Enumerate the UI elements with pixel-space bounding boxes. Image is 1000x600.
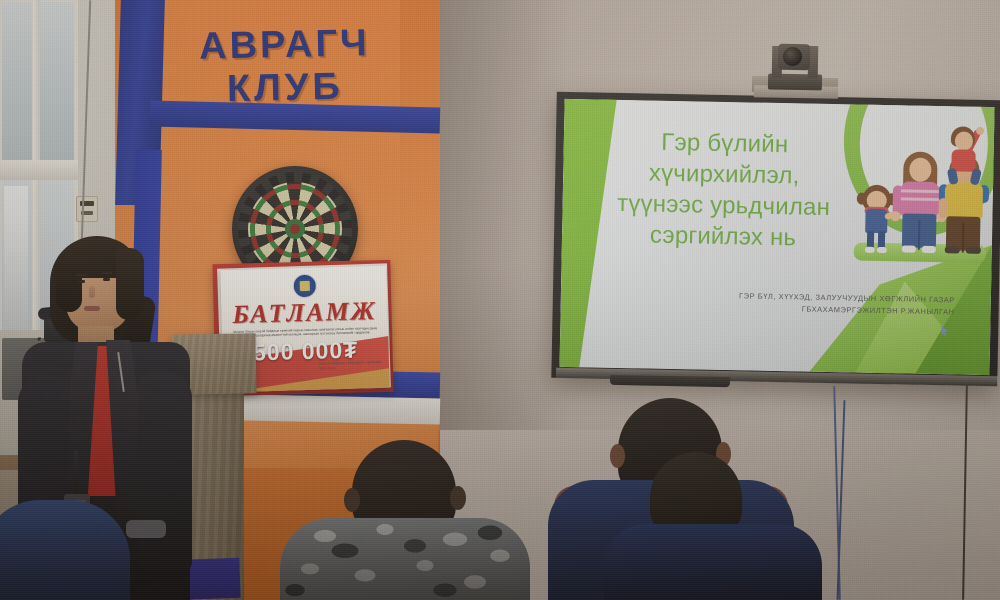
presentation-slide: Гэр бүлийн хүчирхийлэл, түүнээс урьдчила… bbox=[560, 99, 995, 375]
certificate-title: БАТЛАМЖ bbox=[221, 296, 388, 331]
certificate-signature: Онцгой байдлын газар дарга, хурандаа 202… bbox=[319, 360, 385, 372]
audience-shading bbox=[604, 524, 822, 600]
wall-sign-avragch-klub: АВРАГЧ КЛУБ bbox=[169, 22, 401, 123]
window-mullion-horizontal bbox=[0, 160, 78, 180]
wall-mounted-television: Гэр бүлийн хүчирхийлэл, түүнээс урьдчила… bbox=[551, 92, 1000, 387]
audience-member-camouflage-uniform bbox=[280, 518, 530, 600]
camera-lens-icon bbox=[783, 47, 802, 66]
window-pane bbox=[2, 2, 32, 162]
presenter-mouth bbox=[84, 306, 100, 311]
audience-ear bbox=[450, 486, 466, 510]
presenter-arm-right bbox=[138, 372, 192, 572]
presenter-nose bbox=[89, 286, 95, 298]
window-pane bbox=[40, 2, 74, 162]
sign-line-1: АВРАГЧ bbox=[169, 22, 400, 69]
presenter-cuff-right bbox=[126, 520, 166, 538]
girl-shoe bbox=[877, 247, 887, 253]
slide-title: Гэр бүлийн хүчирхийлэл, түүнээс урьдчила… bbox=[584, 125, 864, 254]
slide-title-line: түүнээс урьдчилан bbox=[584, 187, 863, 223]
audience-shading bbox=[0, 500, 130, 600]
family-illustration bbox=[847, 122, 992, 277]
father-shoe bbox=[966, 247, 981, 254]
presenter-eye bbox=[78, 280, 85, 283]
presenter-hair-side-right bbox=[116, 248, 144, 320]
mother-shoe bbox=[902, 245, 916, 252]
sign-line-2: КЛУБ bbox=[170, 64, 401, 113]
tv-screen: Гэр бүлийн хүчирхийлэл, түүнээс урьдчила… bbox=[560, 99, 995, 375]
mother-shoe bbox=[922, 246, 936, 253]
audience-ear bbox=[344, 488, 360, 512]
conference-room-photo: АВРАГЧ КЛУБ БАТЛАМЖ Монгол Улсын онцгой … bbox=[0, 0, 1000, 600]
boy-hand bbox=[976, 127, 984, 135]
mother-hand-left bbox=[890, 211, 900, 221]
power-outlet-icon bbox=[76, 196, 98, 222]
father-shirt bbox=[944, 182, 983, 219]
slide-title-line: сэргийлэх нь bbox=[584, 218, 863, 254]
slide-subtitle: ГЭР БҮЛ, ХҮҮХЭД, ЗАЛУУЧУУДЫН ХӨГЖЛИЙН ГА… bbox=[689, 289, 955, 318]
audience-ear bbox=[610, 444, 625, 468]
girl-overalls bbox=[865, 209, 887, 233]
father-shoe bbox=[945, 246, 960, 253]
dartboard-bullseye bbox=[290, 224, 300, 234]
girl-shoe bbox=[865, 247, 875, 253]
boy-leg bbox=[970, 168, 982, 186]
walkie-talkie-antenna bbox=[74, 450, 78, 498]
audience-shading bbox=[280, 518, 530, 600]
father-arm-left bbox=[938, 198, 947, 218]
presenter-eye bbox=[103, 278, 110, 281]
